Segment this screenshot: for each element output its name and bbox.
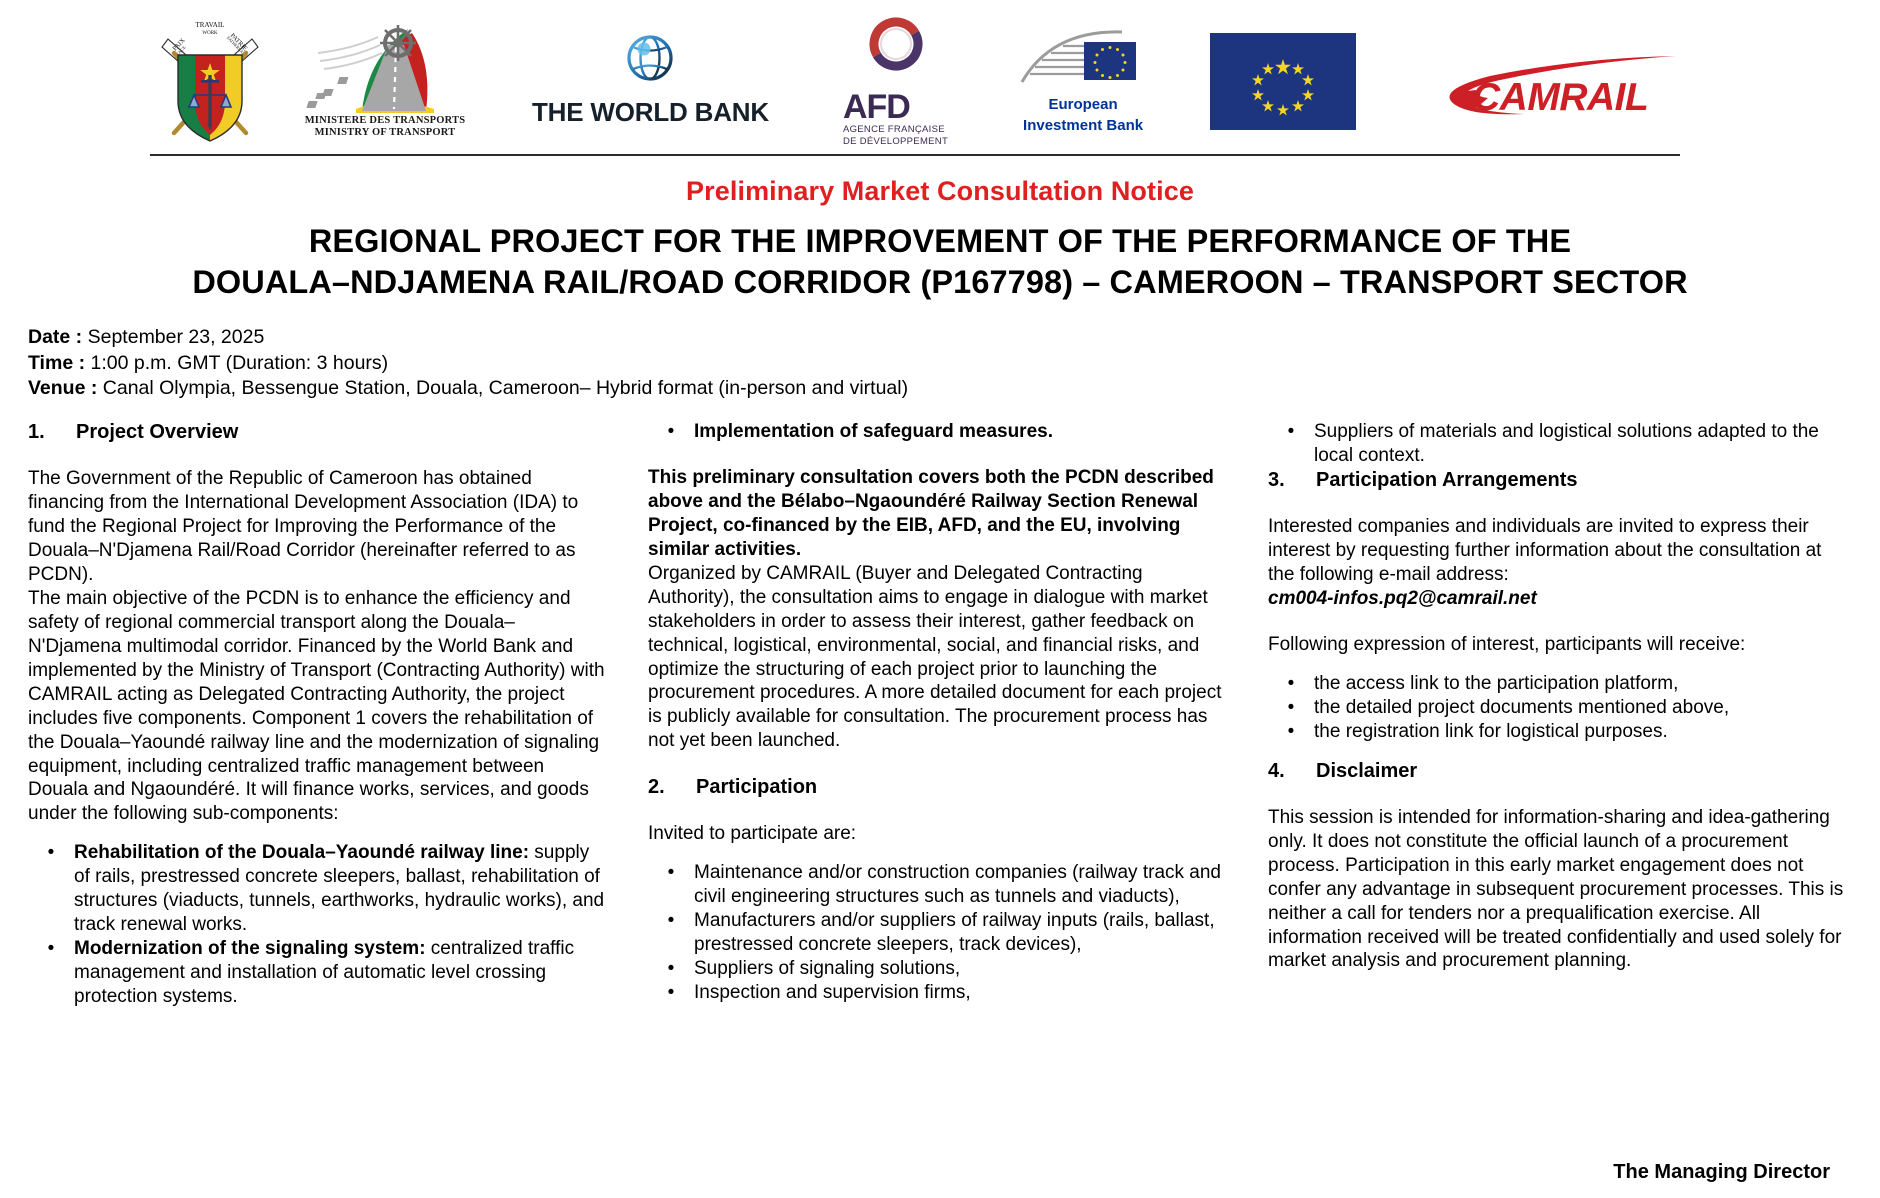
event-venue-row: Venue : Canal Olympia, Bessengue Station…: [28, 376, 1880, 402]
header-divider: [150, 154, 1680, 156]
eib-name-line2: Investment Bank: [1023, 118, 1143, 135]
bullet-icon: •: [648, 981, 694, 1005]
list-item: • Modernization of the signaling system:…: [28, 937, 608, 1009]
column-1: 1. Project Overview The Government of th…: [28, 420, 608, 1009]
event-details: Date : September 23, 2025 Time : 1:00 p.…: [28, 325, 1880, 402]
afd-subtitle-1: AGENCE FRANÇAISE: [843, 124, 948, 136]
svg-text:CAMRAIL: CAMRAIL: [1472, 76, 1648, 119]
ministry-name-fr: MINISTERE DES TRANSPORTS: [305, 115, 466, 127]
section-4-paragraph-1: This session is intended for information…: [1268, 806, 1848, 974]
section-4-heading: 4. Disclaimer: [1268, 759, 1848, 784]
event-venue-value: Canal Olympia, Bessengue Station, Douala…: [97, 377, 908, 399]
list-item-text: Inspection and supervision firms,: [694, 981, 1228, 1005]
bullet-icon: •: [1268, 420, 1314, 468]
section-3-paragraph-1: Interested companies and individuals are…: [1268, 515, 1848, 587]
section-1-paragraph-2: The main objective of the PCDN is to enh…: [28, 587, 608, 826]
eib-name-line1: European: [1048, 97, 1117, 114]
list-item-text: Modernization of the signaling system: c…: [74, 937, 608, 1009]
svg-text:TRAVAIL: TRAVAIL: [196, 21, 225, 29]
section-3-number: 3.: [1268, 468, 1290, 493]
event-date-row: Date : September 23, 2025: [28, 325, 1880, 351]
section-3-paragraph-2: Following expression of interest, partic…: [1268, 633, 1848, 657]
section-2-bullet-list: • Maintenance and/or construction compan…: [648, 861, 1228, 1005]
list-item: • Implementation of safeguard measures.: [648, 420, 1228, 444]
list-item-text: Implementation of safeguard measures.: [694, 420, 1228, 444]
list-item-text: the detailed project documents mentioned…: [1314, 696, 1848, 720]
list-item-text: Maintenance and/or construction companie…: [694, 861, 1228, 909]
list-item: • the access link to the participation p…: [1268, 672, 1848, 696]
list-item: • Suppliers of materials and logistical …: [1268, 420, 1848, 468]
bullet-icon: •: [28, 841, 74, 937]
section-1-bullet-list-cont: • Implementation of safeguard measures.: [648, 420, 1228, 444]
section-1-bullet-list: • Rehabilitation of the Douala–Yaoundé r…: [28, 841, 608, 1009]
eib-arc-icon: [1018, 28, 1148, 93]
logo-bar: PAIX PEACE PATRIE FATHERLAND TRAVAIL WOR…: [0, 0, 1880, 150]
section-3-title: Participation Arrangements: [1316, 468, 1578, 493]
list-item-lead: Implementation of safeguard measures.: [694, 421, 1053, 442]
ministry-road-rail-icon: [300, 23, 470, 115]
european-union-flag-icon: [1210, 33, 1356, 130]
body-columns: 1. Project Overview The Government of th…: [28, 420, 1852, 1009]
column-3: • Suppliers of materials and logistical …: [1268, 420, 1848, 1009]
bullet-icon: •: [1268, 696, 1314, 720]
list-item-text: Manufacturers and/or suppliers of railwa…: [694, 909, 1228, 957]
event-date-label: Date :: [28, 326, 82, 348]
section-2-bullet-list-cont: • Suppliers of materials and logistical …: [1268, 420, 1848, 468]
afd-name: AFD: [843, 88, 910, 126]
list-item: • the detailed project documents mention…: [1268, 696, 1848, 720]
bullet-icon: •: [648, 909, 694, 957]
ministry-of-transport-logo: MINISTERE DES TRANSPORTS MINISTRY OF TRA…: [300, 23, 470, 139]
list-item-text: Rehabilitation of the Douala–Yaoundé rai…: [74, 841, 608, 937]
section-2-title: Participation: [696, 775, 817, 800]
list-item-text: Suppliers of materials and logistical so…: [1314, 420, 1848, 468]
list-item-lead: Modernization of the signaling system:: [74, 938, 426, 959]
section-3-heading: 3. Participation Arrangements: [1268, 468, 1848, 493]
bullet-icon: •: [1268, 672, 1314, 696]
list-item: • Inspection and supervision firms,: [648, 981, 1228, 1005]
ministry-name-en: MINISTRY OF TRANSPORT: [315, 127, 456, 139]
contact-email[interactable]: cm004-infos.pq2@camrail.net: [1268, 587, 1848, 611]
section-4-number: 4.: [1268, 759, 1290, 784]
page-title-line-2: DOUALA–NDJAMENA RAIL/ROAD CORRIDOR (P167…: [0, 262, 1880, 303]
signature-line: The Managing Director: [1613, 1161, 1830, 1184]
svg-text:WORK: WORK: [202, 31, 218, 36]
section-3-bullet-list: • the access link to the participation p…: [1268, 672, 1848, 744]
list-item-text: the registration link for logistical pur…: [1314, 720, 1848, 744]
section-1-number: 1.: [28, 420, 50, 445]
section-4-title: Disclaimer: [1316, 759, 1417, 784]
camrail-logo: CAMRAIL: [1428, 42, 1683, 120]
list-item-text: the access link to the participation pla…: [1314, 672, 1848, 696]
world-bank-globe-icon: [626, 34, 674, 87]
bullet-icon: •: [28, 937, 74, 1009]
list-item-lead: Rehabilitation of the Douala–Yaoundé rai…: [74, 842, 529, 863]
bullet-icon: •: [1268, 720, 1314, 744]
list-item: • Manufacturers and/or suppliers of rail…: [648, 909, 1228, 957]
list-item: • Maintenance and/or construction compan…: [648, 861, 1228, 909]
list-item-text: Suppliers of signaling solutions,: [694, 957, 1228, 981]
world-bank-name: THE WORLD BANK: [532, 97, 769, 128]
section-2-heading: 2. Participation: [648, 775, 1228, 800]
afd-logo: AFD AGENCE FRANÇAISE DE DÉVELOPPEMENT: [843, 14, 948, 148]
page-title-line-1: REGIONAL PROJECT FOR THE IMPROVEMENT OF …: [0, 221, 1880, 262]
document-page: PAIX PEACE PATRIE FATHERLAND TRAVAIL WOR…: [0, 0, 1880, 1198]
list-item: • Rehabilitation of the Douala–Yaoundé r…: [28, 841, 608, 937]
section-1-paragraph-3: Organized by CAMRAIL (Buyer and Delegate…: [648, 562, 1228, 754]
world-bank-logo: THE WORLD BANK: [532, 34, 769, 128]
event-time-label: Time :: [28, 352, 85, 374]
section-1-title: Project Overview: [76, 420, 238, 445]
afd-circle-icon: [866, 14, 926, 79]
page-title: REGIONAL PROJECT FOR THE IMPROVEMENT OF …: [0, 221, 1880, 303]
event-venue-label: Venue :: [28, 377, 97, 399]
bullet-icon: •: [648, 957, 694, 981]
afd-subtitle-2: DE DÉVELOPPEMENT: [843, 136, 948, 148]
event-time-value: 1:00 p.m. GMT (Duration: 3 hours): [85, 352, 388, 374]
section-2-number: 2.: [648, 775, 670, 800]
bullet-icon: •: [648, 861, 694, 909]
bullet-icon: •: [648, 420, 694, 444]
notice-kicker: Preliminary Market Consultation Notice: [0, 176, 1880, 207]
eib-logo: European Investment Bank: [1018, 28, 1148, 135]
event-time-row: Time : 1:00 p.m. GMT (Duration: 3 hours): [28, 351, 1880, 377]
list-item: • Suppliers of signaling solutions,: [648, 957, 1228, 981]
section-2-intro: Invited to participate are:: [648, 822, 1228, 846]
section-1-bold-paragraph: This preliminary consultation covers bot…: [648, 466, 1228, 562]
section-1-heading: 1. Project Overview: [28, 420, 608, 445]
event-date-value: September 23, 2025: [82, 326, 264, 348]
cameroon-coat-of-arms-icon: PAIX PEACE PATRIE FATHERLAND TRAVAIL WOR…: [150, 17, 270, 145]
list-item: • the registration link for logistical p…: [1268, 720, 1848, 744]
column-2: • Implementation of safeguard measures. …: [648, 420, 1228, 1009]
section-1-paragraph-1: The Government of the Republic of Camero…: [28, 467, 608, 587]
